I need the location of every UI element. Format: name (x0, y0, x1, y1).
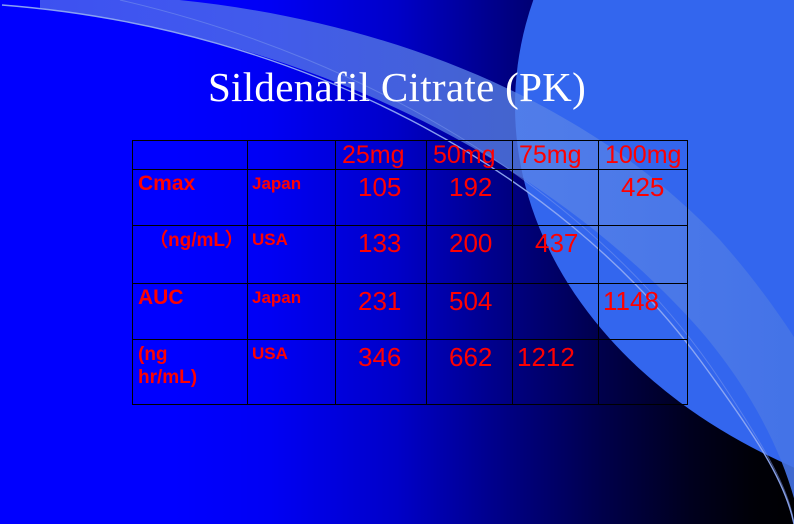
header-cell-dose-50mg: 50mg (427, 141, 513, 170)
cell-auc-japan-75mg (513, 284, 599, 340)
parameter-label-auc: AUC (133, 284, 248, 310)
cell-cmax-usa-100mg (599, 226, 688, 284)
cell-cmax-japan-100mg: 425 (599, 170, 688, 226)
cell-auc-japan-50mg: 504 (427, 284, 513, 340)
table-row-auc-japan: AUC Japan 231 504 1148 (133, 284, 688, 340)
cell-cmax-japan-25mg: 105 (336, 170, 427, 226)
pk-data-table: 25mg 50mg 75mg 100mg Cmax Japan (132, 140, 688, 405)
dose-label-100mg: 100mg (599, 141, 688, 169)
parameter-unit-auc: (ng·hr/mL) (133, 340, 248, 389)
value-auc-japan-25mg: 231 (336, 284, 427, 315)
cell-auc-usa-25mg: 346 (336, 340, 427, 405)
cell-auc-usa-100mg (599, 340, 688, 405)
dose-label-25mg: 25mg (336, 141, 427, 169)
parameter-unit-auc-part-a: (ng (138, 344, 168, 365)
cell-region-usa-cmax: USA (248, 226, 336, 284)
cell-parameter-auc: AUC (133, 284, 248, 340)
page-title: Sildenafil Citrate (PK) (0, 62, 794, 112)
value-auc-japan-75mg (513, 284, 599, 287)
region-label-japan: Japan (248, 170, 336, 193)
value-auc-usa-50mg: 662 (427, 340, 513, 371)
header-cell-dose-100mg: 100mg (599, 141, 688, 170)
table-row-auc-usa: (ng·hr/mL) USA 346 662 1212 (133, 340, 688, 405)
table-row-cmax-japan: Cmax Japan 105 192 425 (133, 170, 688, 226)
value-auc-japan-50mg: 504 (427, 284, 513, 315)
region-label-usa-auc: USA (248, 340, 336, 363)
middle-dot-icon: · (168, 343, 248, 366)
region-label-usa: USA (248, 226, 336, 249)
value-cmax-japan-100mg: 425 (599, 170, 688, 201)
cell-region-japan-auc: Japan (248, 284, 336, 340)
cell-auc-japan-25mg: 231 (336, 284, 427, 340)
cell-cmax-usa-25mg: 133 (336, 226, 427, 284)
value-cmax-japan-75mg (513, 170, 599, 173)
value-cmax-usa-75mg: 437 (513, 226, 599, 257)
value-auc-usa-25mg: 346 (336, 340, 427, 371)
header-cell-region (248, 141, 336, 170)
slide-canvas: Sildenafil Citrate (PK) 25mg (0, 0, 794, 524)
cell-parameter-cmax: Cmax (133, 170, 248, 226)
cell-cmax-japan-50mg: 192 (427, 170, 513, 226)
cell-cmax-usa-50mg: 200 (427, 226, 513, 284)
cell-region-usa-auc: USA (248, 340, 336, 405)
cell-parameter-cmax-unit: （ng/mL） (133, 226, 248, 284)
cell-auc-japan-100mg: 1148 (599, 284, 688, 340)
value-auc-usa-75mg: 1212 (513, 340, 599, 371)
dose-label-50mg: 50mg (427, 141, 513, 169)
table-row-header: 25mg 50mg 75mg 100mg (133, 141, 688, 170)
value-auc-usa-100mg (599, 340, 688, 343)
value-cmax-japan-25mg: 105 (336, 170, 427, 201)
value-auc-japan-100mg: 1148 (599, 284, 688, 315)
cell-auc-usa-50mg: 662 (427, 340, 513, 405)
header-cell-parameter (133, 141, 248, 170)
value-cmax-usa-100mg (599, 226, 688, 229)
cell-cmax-japan-75mg (513, 170, 599, 226)
parameter-unit-auc-part-b: hr/mL) (138, 367, 197, 388)
cell-cmax-usa-75mg: 437 (513, 226, 599, 284)
parameter-label-cmax: Cmax (133, 170, 248, 196)
cell-parameter-auc-unit: (ng·hr/mL) (133, 340, 248, 405)
dose-label-75mg: 75mg (513, 141, 599, 169)
header-cell-dose-75mg: 75mg (513, 141, 599, 170)
value-cmax-usa-25mg: 133 (336, 226, 427, 257)
region-label-japan-auc: Japan (248, 284, 336, 307)
value-cmax-japan-50mg: 192 (427, 170, 513, 201)
header-cell-dose-25mg: 25mg (336, 141, 427, 170)
value-cmax-usa-50mg: 200 (427, 226, 513, 257)
table-row-cmax-usa: （ng/mL） USA 133 200 437 (133, 226, 688, 284)
cell-auc-usa-75mg: 1212 (513, 340, 599, 405)
cell-region-japan-cmax: Japan (248, 170, 336, 226)
parameter-unit-cmax: （ng/mL） (133, 226, 248, 252)
